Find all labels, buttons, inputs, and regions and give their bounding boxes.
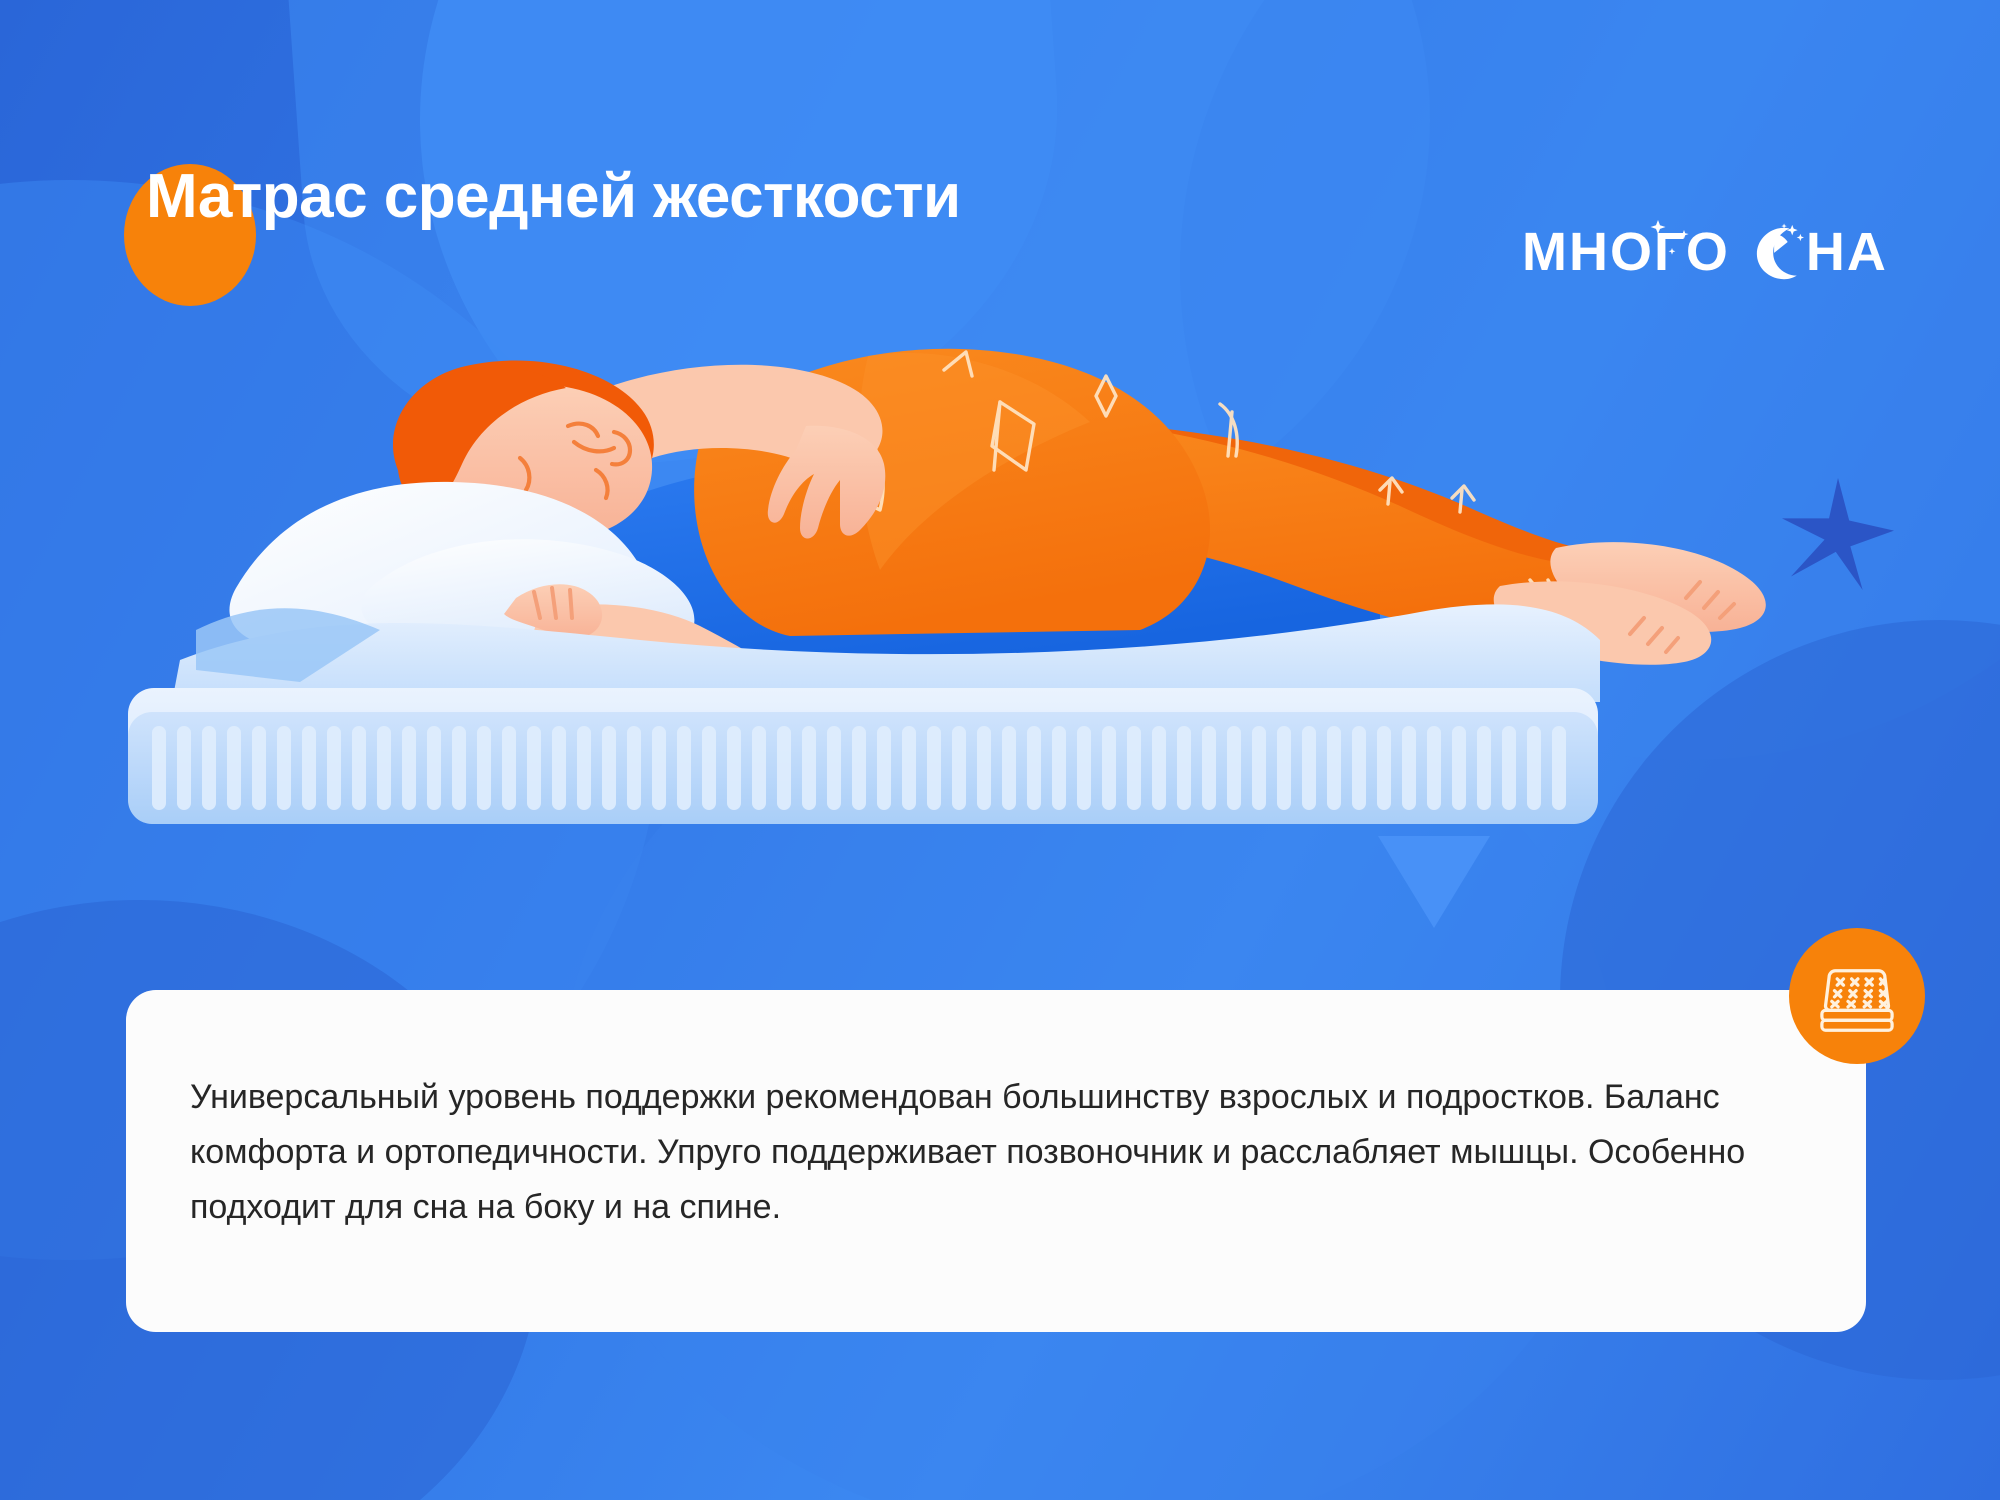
mattress-badge[interactable]: [1789, 928, 1925, 1064]
description-text: Универсальный уровень поддержки рекоменд…: [190, 1070, 1790, 1235]
accent-triangle: [1378, 836, 1490, 928]
infographic-canvas: Матрас средней жесткости МНОГО НА: [0, 0, 2000, 1500]
brand-logo: МНОГО НА: [1522, 212, 1888, 292]
description-card: Универсальный уровень поддержки рекоменд…: [126, 990, 1866, 1332]
logo-text-na: НА: [1806, 225, 1888, 279]
mattress-icon: [1812, 951, 1902, 1041]
page-title: Матрас средней жесткости: [146, 166, 961, 228]
sleeping-person-illustration: [0, 330, 2000, 950]
logo-text-mnogo: МНОГО: [1522, 225, 1730, 279]
crescent-moon-icon: [1740, 213, 1818, 291]
